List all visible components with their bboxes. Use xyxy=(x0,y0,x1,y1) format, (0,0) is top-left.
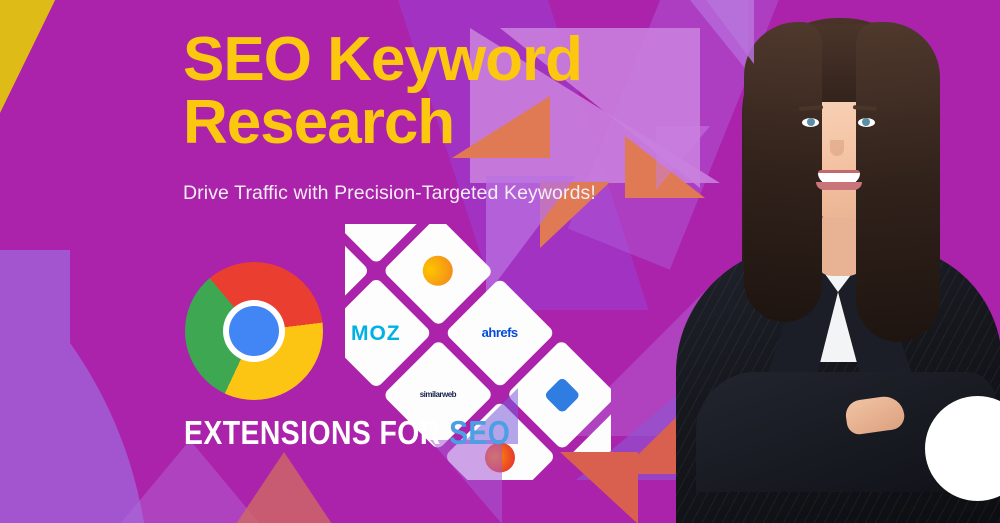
iris-right xyxy=(862,118,870,126)
extensions-for-seo-wordmark: EXTENSIONS FOR SEO xyxy=(184,416,510,449)
dot-orange-icon xyxy=(417,250,459,292)
chrome-logo-center xyxy=(229,306,279,356)
page-title: SEO Keyword Research xyxy=(183,28,613,154)
ahrefs-icon: ahrefs xyxy=(482,327,518,340)
page-subtitle: Drive Traffic with Precision-Targeted Ke… xyxy=(183,182,643,205)
hair-right xyxy=(856,22,940,342)
wordmark-white-text: EXTENSIONS FOR xyxy=(184,414,449,451)
blue-square-icon xyxy=(544,377,581,414)
coral-triangle-5 xyxy=(560,452,638,523)
hair-left xyxy=(744,22,822,322)
seo-keyword-research-banner: SEO Keyword Research Drive Traffic with … xyxy=(0,0,1000,523)
light-purple-curve-2 xyxy=(0,250,70,523)
coral-triangle-6 xyxy=(236,452,332,523)
iris-left xyxy=(807,118,815,126)
wordmark-blue-text: SEO xyxy=(449,414,510,451)
moz-icon: MOZ xyxy=(351,323,401,344)
chrome-logo-icon xyxy=(185,262,323,400)
similarweb-icon: similarweb xyxy=(420,391,456,399)
lavender-triangle-over-portrait xyxy=(706,0,754,64)
purple-triangle-low-5 xyxy=(430,440,502,523)
nose xyxy=(830,140,844,156)
lower-lip xyxy=(816,182,862,190)
